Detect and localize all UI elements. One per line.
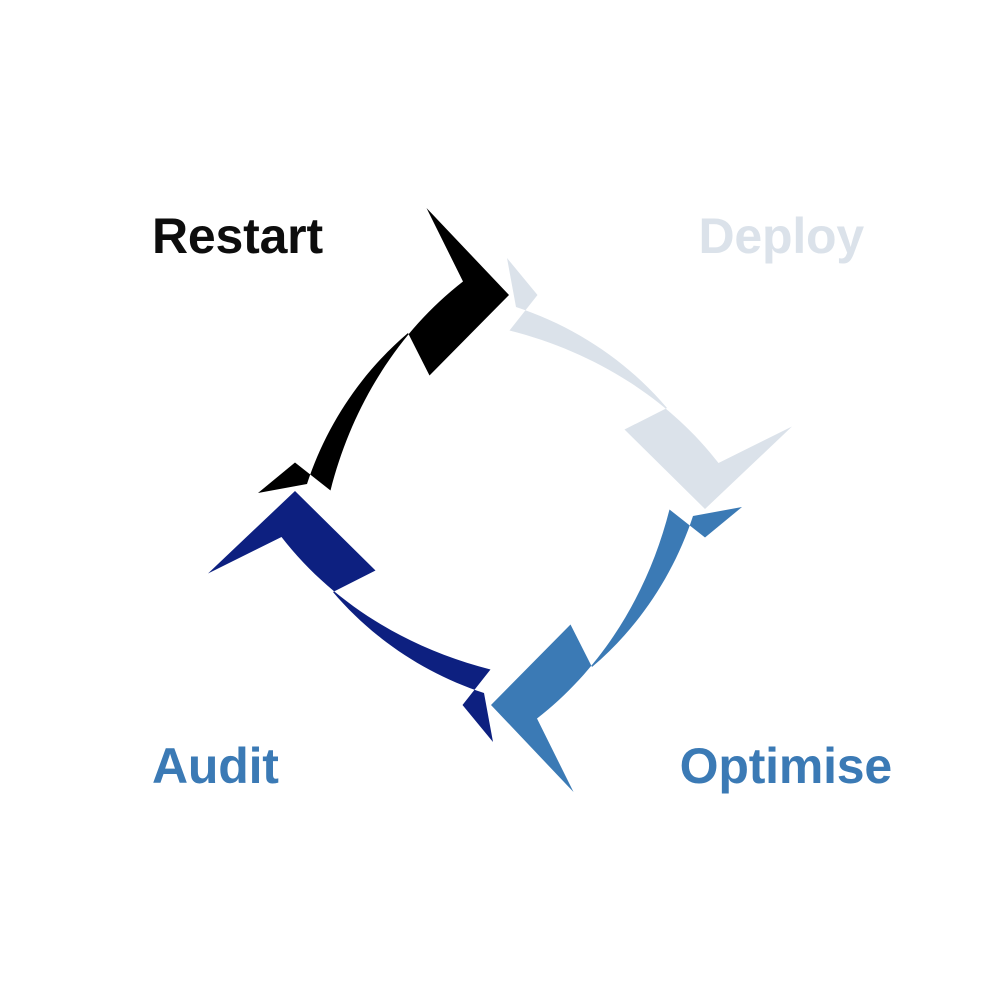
stage-label-restart: Restart: [152, 211, 323, 261]
cycle-arrow-group: [208, 208, 792, 792]
cycle-arrows-graphic: [0, 0, 1000, 1000]
arrow-audit[interactable]: [208, 491, 493, 742]
stage-label-audit: Audit: [152, 741, 279, 791]
arrow-deploy[interactable]: [507, 258, 792, 509]
arrow-deploy-shape: [507, 258, 792, 509]
cycle-diagram: Restart Deploy Optimise Audit: [0, 0, 1000, 1000]
arrow-audit-shape: [208, 491, 493, 742]
stage-label-deploy: Deploy: [699, 211, 865, 261]
stage-label-optimise: Optimise: [680, 741, 892, 791]
